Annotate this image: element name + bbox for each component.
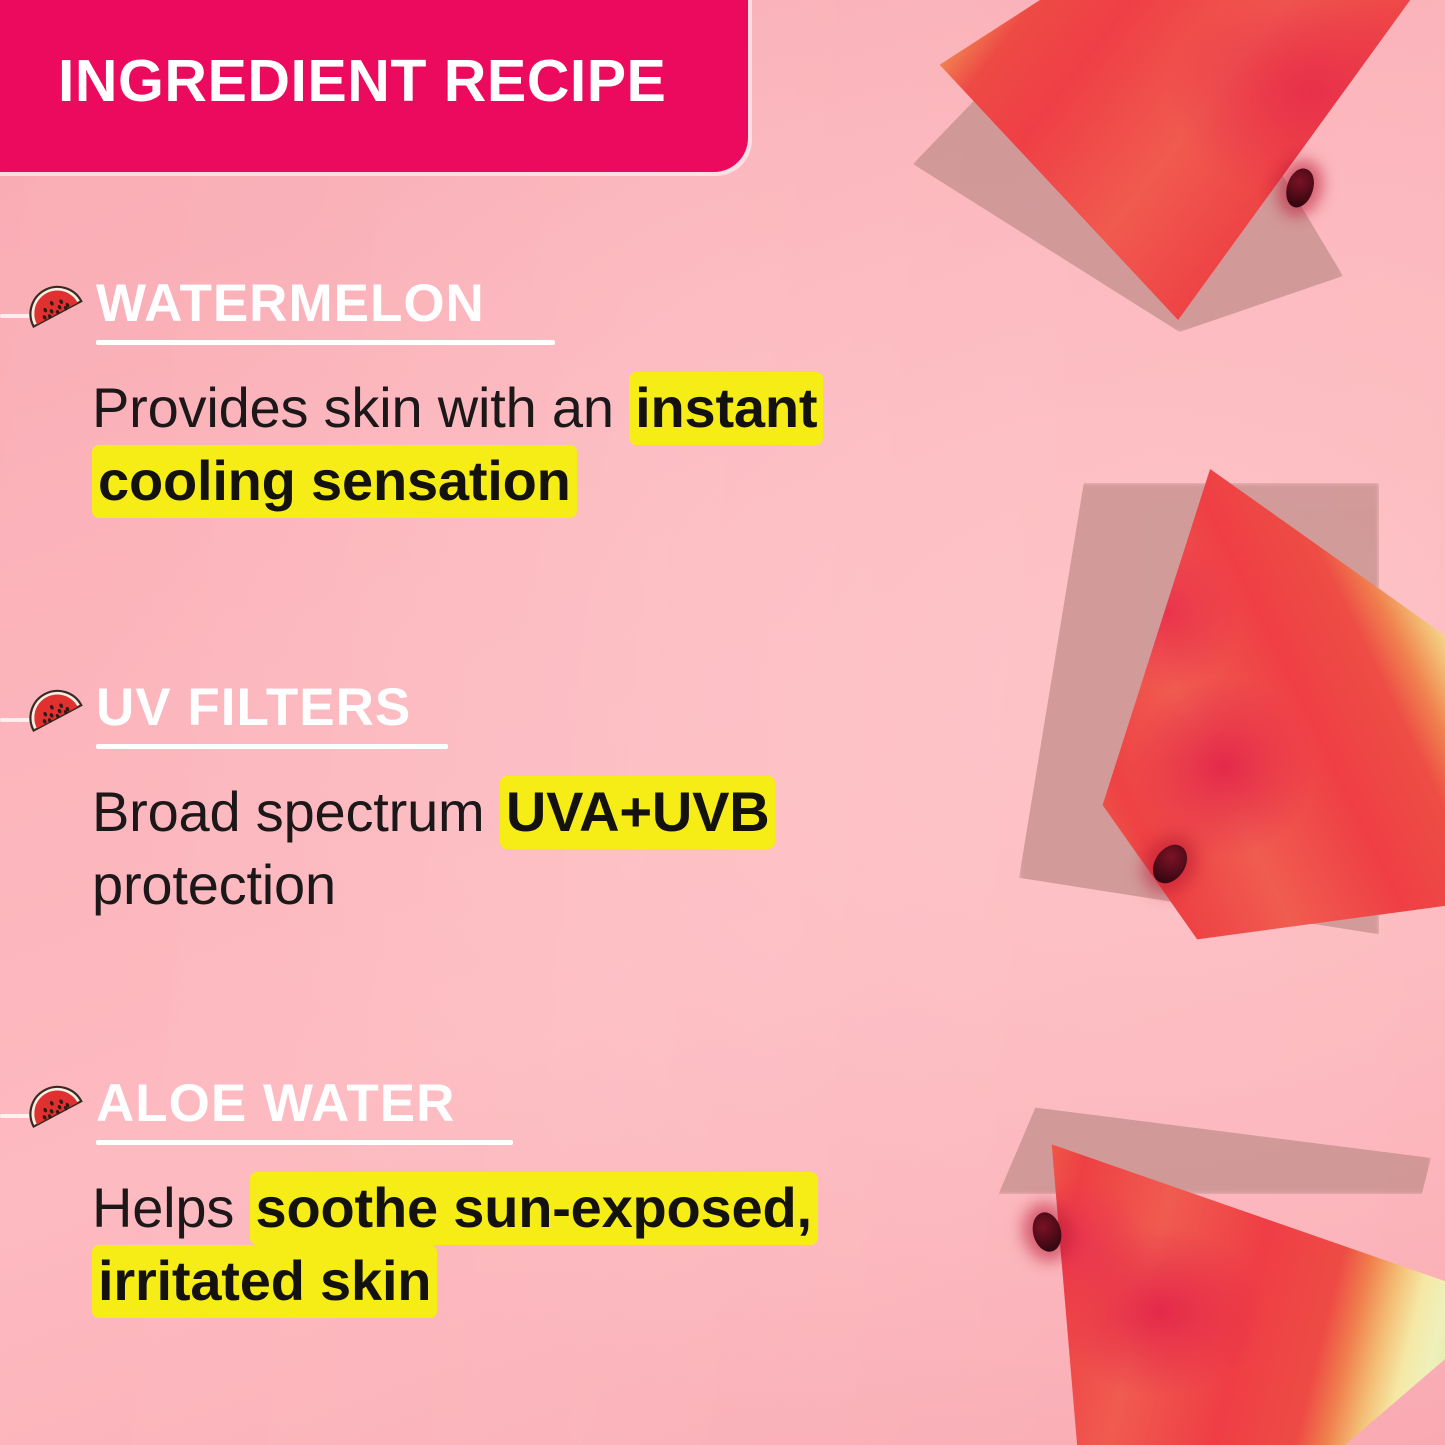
heading-underline — [96, 1140, 513, 1145]
watermelon-slice-icon — [22, 278, 92, 348]
watermelon-wedge-bottom — [955, 1090, 1445, 1445]
ingredient-heading-row: WATERMELON — [0, 278, 1000, 354]
description-plain-2: protection — [92, 853, 336, 916]
ingredient-heading: ALOE WATER — [96, 1076, 455, 1132]
watermelon-slice-icon — [22, 682, 92, 752]
ingredient-list: WATERMELON Provides skin with an instant… — [0, 0, 1000, 1445]
ingredient-heading-row: UV FILTERS — [0, 682, 1000, 758]
ingredient-item-uv-filters: UV FILTERS Broad spectrum UVA+UVB protec… — [0, 682, 1000, 758]
ingredient-description: Provides skin with an instant cooling se… — [92, 372, 972, 518]
watermelon-shadow — [971, 1104, 1431, 1194]
watermelon-slice-icon — [22, 1078, 92, 1148]
ingredient-description: Broad spectrum UVA+UVB protection — [92, 776, 972, 922]
description-highlight-1: UVA+UVB — [500, 776, 776, 849]
description-plain-1: Broad spectrum — [92, 780, 500, 843]
watermelon-wedge-middle — [1005, 455, 1445, 965]
heading-underline — [96, 340, 555, 345]
ingredient-heading: WATERMELON — [96, 276, 485, 332]
ingredient-recipe-poster: INGREDIENT RECIPE — [0, 0, 1445, 1445]
ingredient-item-aloe-water: ALOE WATER Helps soothe sun-exposed, irr… — [0, 1078, 1000, 1154]
description-plain-1: Helps — [92, 1176, 250, 1239]
description-plain-1: Provides skin with an — [92, 376, 629, 439]
ingredient-heading-row: ALOE WATER — [0, 1078, 1000, 1154]
ingredient-item-watermelon: WATERMELON Provides skin with an instant… — [0, 278, 1000, 354]
ingredient-description: Helps soothe sun-exposed, irritated skin — [92, 1172, 972, 1318]
ingredient-heading: UV FILTERS — [96, 680, 411, 736]
heading-underline — [96, 744, 448, 749]
